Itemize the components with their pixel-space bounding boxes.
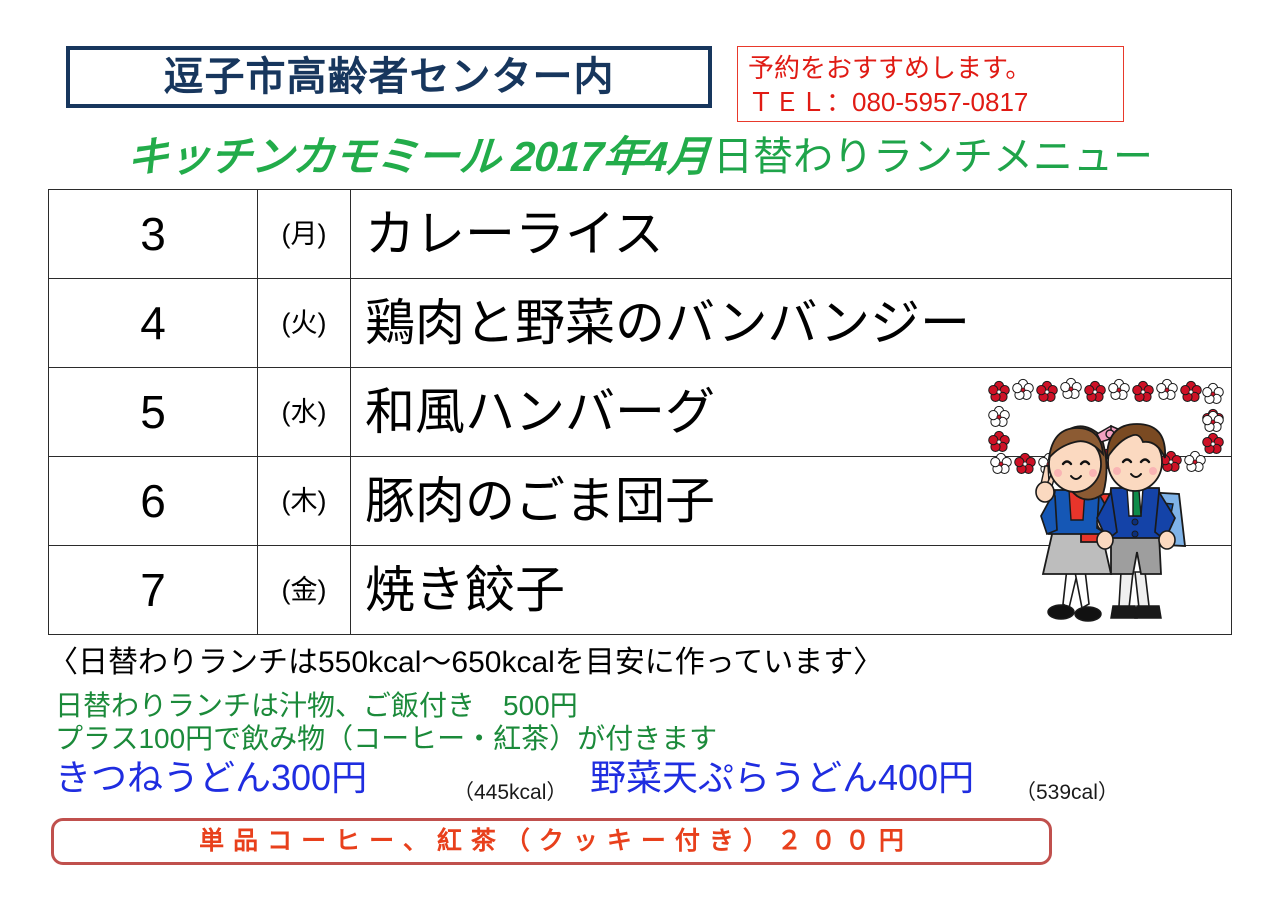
day-value: (木) (282, 486, 327, 516)
kitsune-udon-price: きつねうどん300円 (55, 760, 367, 796)
cell-date: 7 (49, 546, 258, 635)
dish-value: 豚肉のごま団子 (351, 476, 1231, 526)
dish-value: 鶏肉と野菜のバンバンジー (351, 298, 1231, 348)
kitsune-udon-calories: （445kcal） (453, 782, 567, 803)
table-row: 5 (水) 和風ハンバーグ (49, 368, 1232, 457)
cell-day: (月) (258, 190, 351, 279)
daily-lunch-menu-label: 日替わりランチメニュー (713, 137, 1153, 177)
day-value: (火) (282, 308, 327, 338)
table-row: 7 (金) 焼き餃子 (49, 546, 1232, 635)
tempura-udon-calories: （539cal） (1015, 782, 1119, 803)
date-value: 7 (140, 564, 166, 616)
telephone-number: ＴＥＬ：080-5957-0817 (748, 85, 1115, 119)
table-row: 6 (木) 豚肉のごま団子 (49, 457, 1232, 546)
cell-date: 5 (49, 368, 258, 457)
cell-day: (木) (258, 457, 351, 546)
dish-value: カレーライス (351, 209, 1231, 259)
reservation-note: 予約をおすすめします。 (748, 51, 1115, 85)
cell-dish: 焼き餃子 (351, 546, 1232, 635)
calorie-range-note: 〈日替わりランチは550kcal〜650kcalを目安に作っています〉 (48, 648, 883, 678)
venue-title: 逗子市高齢者センター内 (164, 57, 615, 97)
date-value: 4 (140, 297, 166, 349)
day-value: (金) (282, 575, 327, 605)
date-value: 3 (140, 208, 166, 260)
coffee-banner-text: 単品コーヒー、紅茶（クッキー付き）２００円 (190, 829, 913, 854)
cell-dish: 鶏肉と野菜のバンバンジー (351, 279, 1232, 368)
daily-lunch-table: 3 (月) カレーライス 4 (火) 鶏肉と野菜のバンバンジー 5 (水) 和風… (48, 189, 1232, 635)
cell-dish: 豚肉のごま団子 (351, 457, 1232, 546)
menu-heading: キッチンカモミール 2017年4月 日替わりランチメニュー (0, 132, 1280, 182)
reservation-tel-box: 予約をおすすめします。 ＴＥＬ：080-5957-0817 (737, 46, 1124, 122)
cell-day: (水) (258, 368, 351, 457)
dish-value: 和風ハンバーグ (351, 387, 1231, 437)
cell-date: 3 (49, 190, 258, 279)
table-row: 3 (月) カレーライス (49, 190, 1232, 279)
udon-price-row: きつねうどん300円 （445kcal） 野菜天ぷらうどん400円 （539ca… (55, 760, 1185, 808)
table-row: 4 (火) 鶏肉と野菜のバンバンジー (49, 279, 1232, 368)
venue-title-box: 逗子市高齢者センター内 (66, 46, 712, 108)
date-value: 5 (140, 386, 166, 438)
lunch-set-note: 日替わりランチは汁物、ご飯付き 500円 (55, 692, 578, 720)
dish-value: 焼き餃子 (351, 565, 1231, 615)
cell-day: (火) (258, 279, 351, 368)
cell-date: 4 (49, 279, 258, 368)
tempura-udon-price: 野菜天ぷらうどん400円 (590, 760, 974, 796)
cell-dish: 和風ハンバーグ (351, 368, 1232, 457)
day-value: (月) (282, 219, 327, 249)
cell-date: 6 (49, 457, 258, 546)
cell-dish: カレーライス (351, 190, 1232, 279)
day-value: (水) (282, 397, 327, 427)
date-value: 6 (140, 475, 166, 527)
shop-name-and-month: キッチンカモミール 2017年4月 (126, 136, 711, 178)
drink-addon-note: プラス100円で飲み物（コーヒー・紅茶）が付きます (55, 725, 717, 753)
coffee-banner: 単品コーヒー、紅茶（クッキー付き）２００円 (51, 818, 1052, 865)
cell-day: (金) (258, 546, 351, 635)
